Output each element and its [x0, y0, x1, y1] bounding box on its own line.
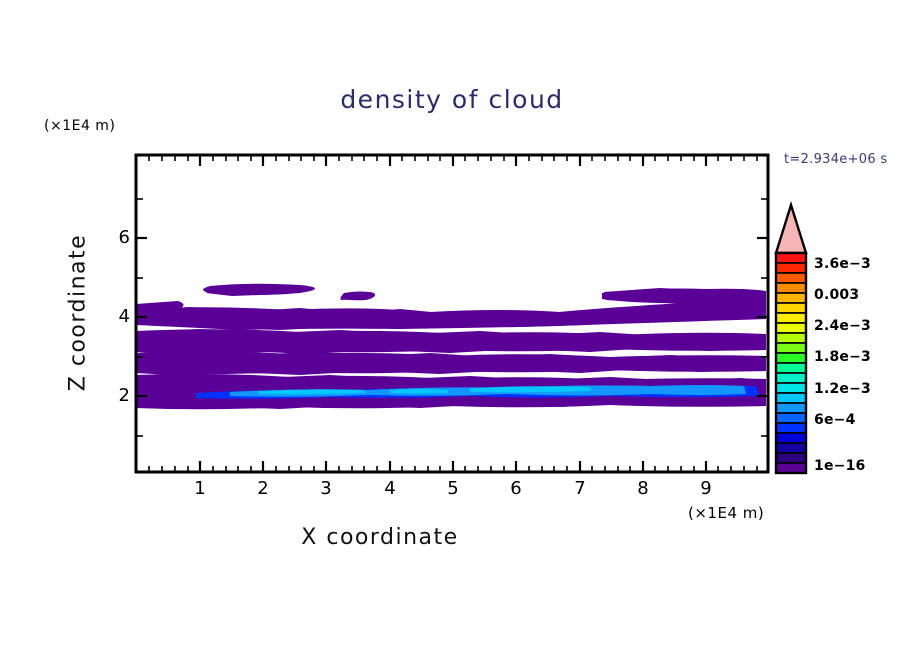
x-tick-label: 3 — [311, 478, 341, 499]
colorbar-tick-label: 1.2e−3 — [814, 381, 871, 397]
colorbar-tick-label: 1.8e−3 — [814, 349, 871, 365]
colorbar-band — [776, 263, 806, 273]
colorbar[interactable] — [776, 205, 806, 473]
colorbar-band — [776, 413, 806, 423]
colorbar-band — [776, 273, 806, 283]
colorbar-band — [776, 313, 806, 323]
colorbar-band — [776, 453, 806, 463]
colorbar-band — [776, 443, 806, 453]
colorbar-band — [776, 373, 806, 383]
colorbar-band — [776, 363, 806, 373]
colorbar-band — [776, 393, 806, 403]
y-tick-label: 4 — [100, 306, 130, 327]
x-tick-label: 7 — [565, 478, 595, 499]
colorbar-band — [776, 323, 806, 333]
x-tick-label: 8 — [628, 478, 658, 499]
colorbar-band — [776, 333, 806, 343]
x-tick-label: 1 — [185, 478, 215, 499]
x-tick-label: 2 — [248, 478, 278, 499]
colorbar-band — [776, 343, 806, 353]
contour-plot — [0, 0, 904, 654]
colorbar-band — [776, 303, 806, 313]
colorbar-tick-label: 1e−16 — [814, 458, 865, 474]
colorbar-tick-label: 0.003 — [814, 287, 859, 303]
colorbar-band — [776, 353, 806, 363]
colorbar-band — [776, 283, 806, 293]
colorbar-band — [776, 403, 806, 413]
colorbar-band — [776, 383, 806, 393]
y-tick-label: 2 — [100, 385, 130, 406]
colorbar-band — [776, 423, 806, 433]
colorbar-band — [776, 433, 806, 443]
colorbar-band — [776, 463, 806, 473]
y-tick-label: 6 — [100, 227, 130, 248]
x-tick-label: 9 — [691, 478, 721, 499]
x-tick-label: 5 — [438, 478, 468, 499]
colorbar-tick-label: 2.4e−3 — [814, 318, 871, 334]
x-tick-label: 4 — [375, 478, 405, 499]
colorbar-tick-label: 3.6e−3 — [814, 256, 871, 272]
colorbar-arrow-cap — [776, 205, 806, 253]
colorbar-tick-label: 6e−4 — [814, 412, 856, 428]
x-tick-label: 6 — [501, 478, 531, 499]
colorbar-band — [776, 253, 806, 263]
colorbar-band — [776, 293, 806, 303]
